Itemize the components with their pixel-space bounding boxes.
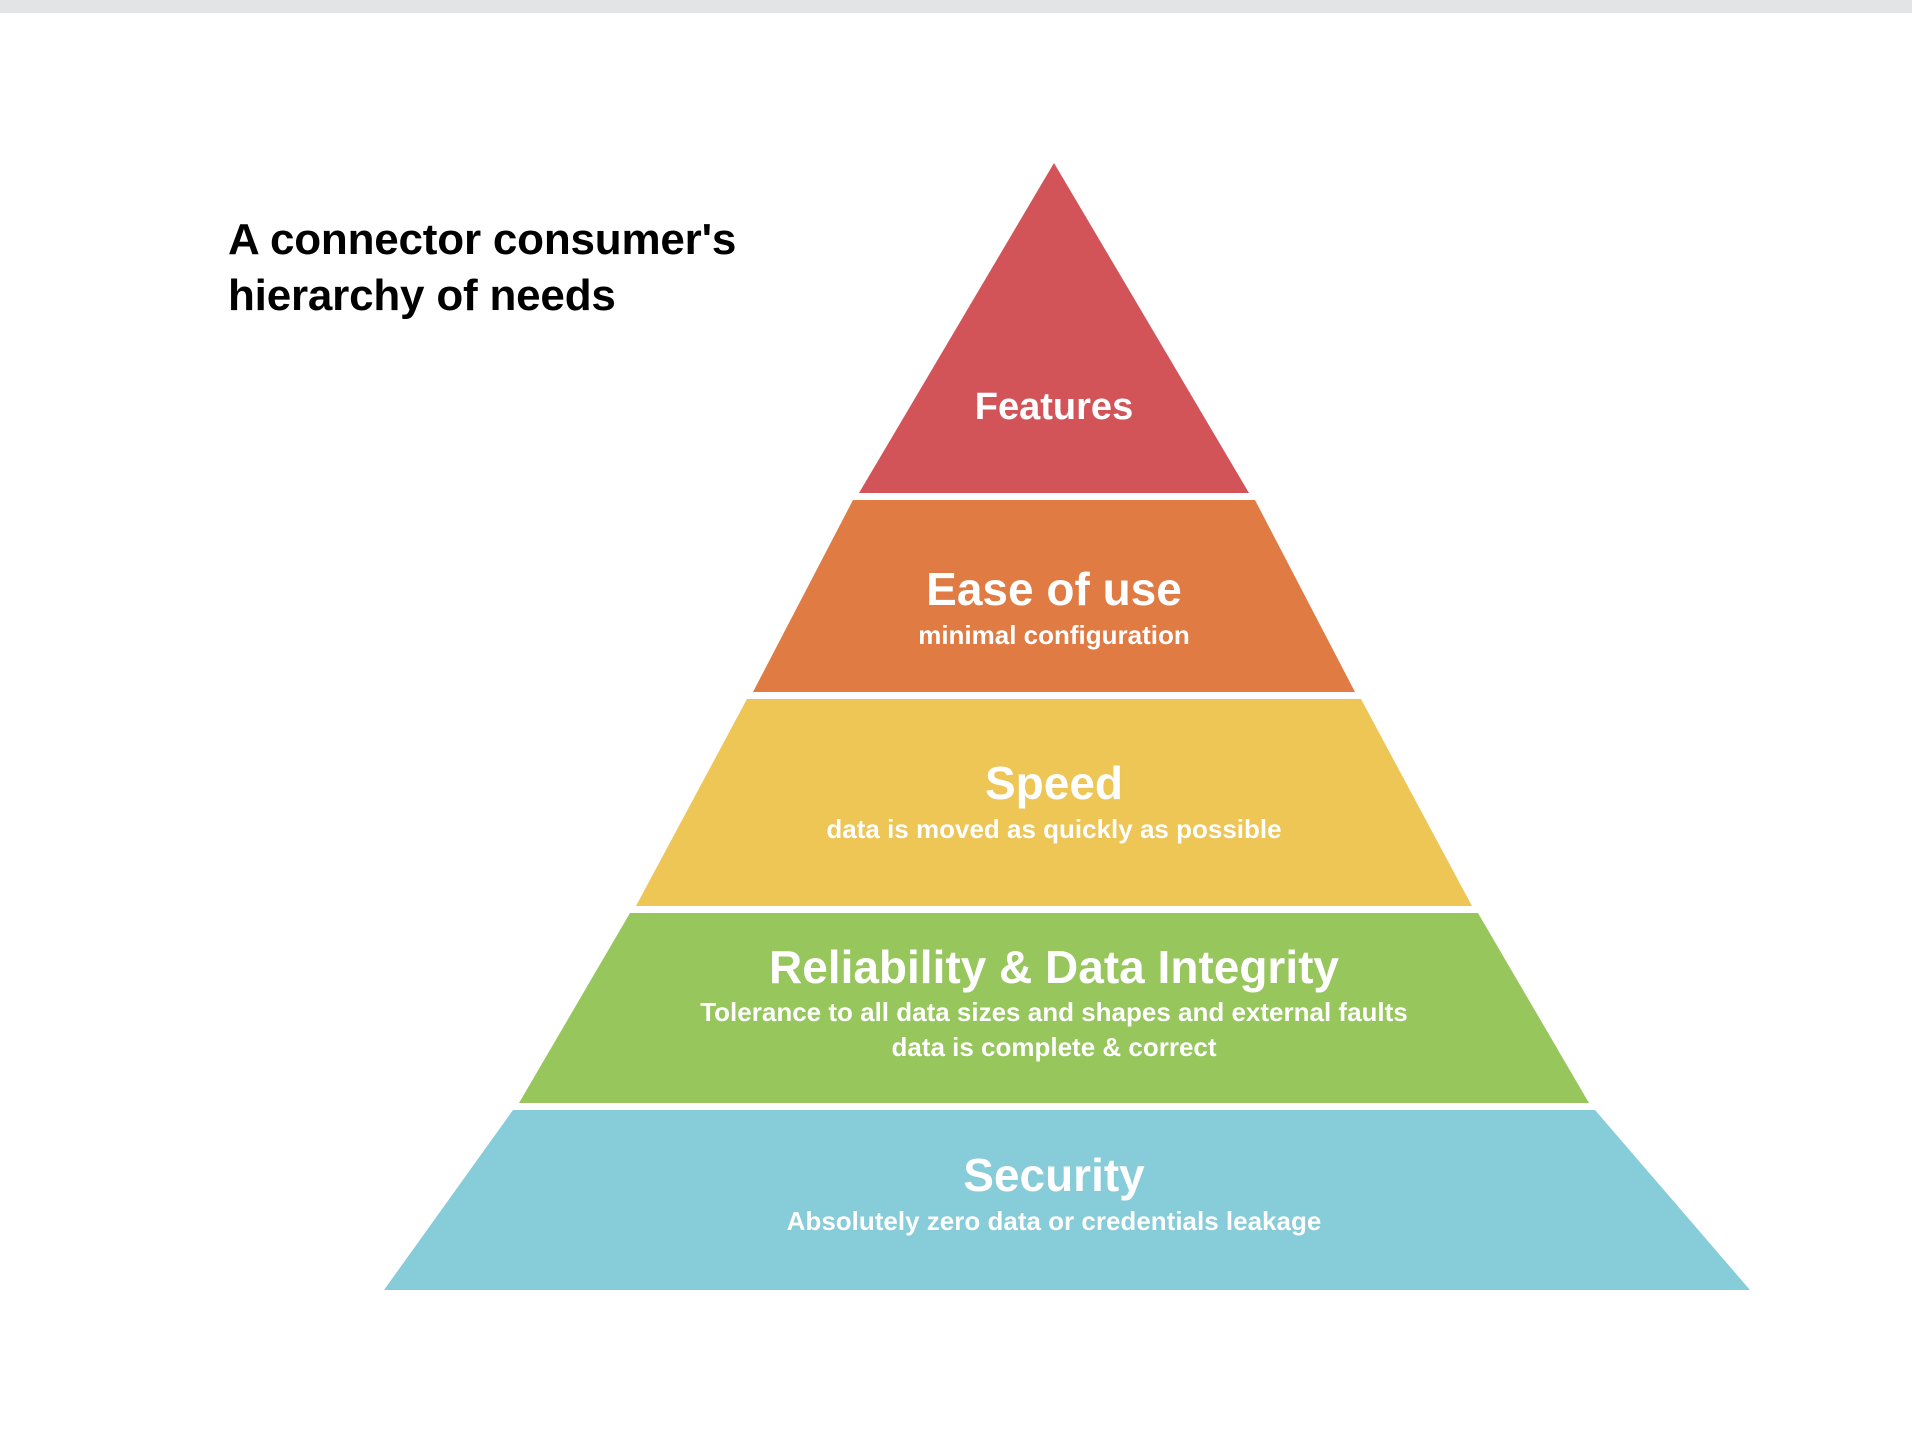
diagram-canvas: A connector consumer's hierarchy of need… bbox=[0, 0, 1912, 1432]
tier-2-subtitle: minimal configuration bbox=[754, 620, 1354, 651]
tier-2-title: Ease of use bbox=[754, 562, 1354, 616]
pyramid-tier-5-label: Security Absolutely zero data or credent… bbox=[534, 1148, 1574, 1237]
pyramid-tier-1-shape[interactable] bbox=[859, 163, 1249, 493]
tier-4-subtitle: Tolerance to all data sizes and shapes a… bbox=[574, 997, 1534, 1029]
tier-5-title: Security bbox=[534, 1148, 1574, 1202]
tier-4-title: Reliability & Data Integrity bbox=[574, 940, 1534, 994]
tier-4-subtitle-2: data is complete & correct bbox=[574, 1032, 1534, 1064]
pyramid-tier-4-label: Reliability & Data Integrity Tolerance t… bbox=[574, 940, 1534, 1064]
tier-3-subtitle: data is moved as quickly as possible bbox=[694, 814, 1414, 845]
tier-3-title: Speed bbox=[694, 756, 1414, 810]
pyramid-diagram: Features Ease of use minimal configurati… bbox=[0, 0, 1912, 1432]
pyramid-tier-3-label: Speed data is moved as quickly as possib… bbox=[694, 756, 1414, 845]
pyramid-tier-1-label: Features bbox=[814, 385, 1294, 430]
pyramid-tier-2-label: Ease of use minimal configuration bbox=[754, 562, 1354, 651]
tier-5-subtitle: Absolutely zero data or credentials leak… bbox=[534, 1206, 1574, 1237]
tier-1-title: Features bbox=[814, 385, 1294, 430]
